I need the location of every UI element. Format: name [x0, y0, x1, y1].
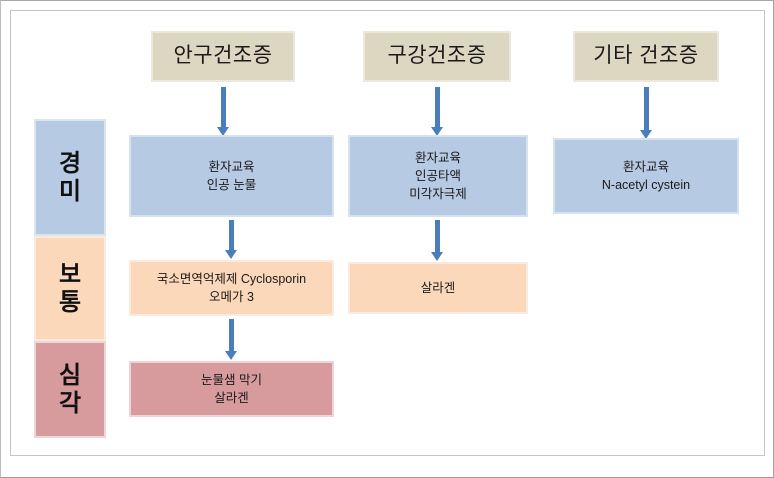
title-box-ocular-label: 안구건조증: [173, 41, 272, 71]
step-box-oral-moderate[interactable]: 살라겐: [348, 262, 528, 314]
step-box-oral-mild-line-1: 환자교육: [415, 149, 461, 167]
title-box-other[interactable]: 기타 건조증: [573, 31, 719, 82]
step-box-other-mild-line-1: 환자교육: [623, 158, 669, 176]
title-box-ocular[interactable]: 안구건조증: [151, 31, 295, 82]
diagram-canvas: 안구건조증 구강건조증 기타 건조증 경 미 보 통 심 각 환자교육: [0, 0, 774, 478]
severity-scale: 경 미 보 통 심 각: [34, 119, 106, 438]
severity-segment-severe[interactable]: 심 각: [34, 341, 106, 438]
severity-severe-char-2: 각: [59, 390, 81, 418]
severity-moderate-char-1: 보: [59, 261, 81, 289]
severity-segment-mild[interactable]: 경 미: [34, 119, 106, 236]
severity-moderate-char-2: 통: [59, 289, 81, 317]
step-box-ocular-mild-line-1: 환자교육: [208, 158, 254, 176]
severity-severe-char-1: 심: [59, 362, 81, 390]
step-box-ocular-severe-line-1: 눈물샘 막기: [201, 371, 262, 389]
title-box-oral[interactable]: 구강건조증: [363, 31, 511, 82]
step-box-other-mild-line-2: N-acetyl cystein: [602, 176, 690, 194]
step-box-ocular-moderate-line-1: 국소면역억제제 Cyclosporin: [157, 270, 306, 288]
title-box-other-label: 기타 건조증: [593, 41, 698, 71]
step-box-ocular-moderate[interactable]: 국소면역억제제 Cyclosporin 오메가 3: [129, 260, 334, 316]
severity-mild-char-1: 경: [59, 150, 81, 178]
step-box-oral-mild[interactable]: 환자교육 인공타액 미각자극제: [348, 135, 528, 217]
step-box-oral-moderate-line-1: 살라겐: [421, 279, 456, 297]
step-box-ocular-severe-line-2: 살라겐: [214, 389, 249, 407]
step-box-oral-mild-line-3: 미각자극제: [409, 185, 467, 203]
title-box-oral-label: 구강건조증: [387, 41, 486, 71]
step-box-ocular-moderate-line-2: 오메가 3: [209, 288, 254, 306]
step-box-ocular-severe[interactable]: 눈물샘 막기 살라겐: [129, 361, 334, 417]
step-box-ocular-mild-line-2: 인공 눈물: [207, 176, 256, 194]
severity-mild-char-2: 미: [59, 178, 81, 206]
step-box-oral-mild-line-2: 인공타액: [415, 167, 461, 185]
severity-segment-moderate[interactable]: 보 통: [34, 236, 106, 341]
step-box-ocular-mild[interactable]: 환자교육 인공 눈물: [129, 135, 334, 217]
step-box-other-mild[interactable]: 환자교육 N-acetyl cystein: [553, 138, 739, 214]
